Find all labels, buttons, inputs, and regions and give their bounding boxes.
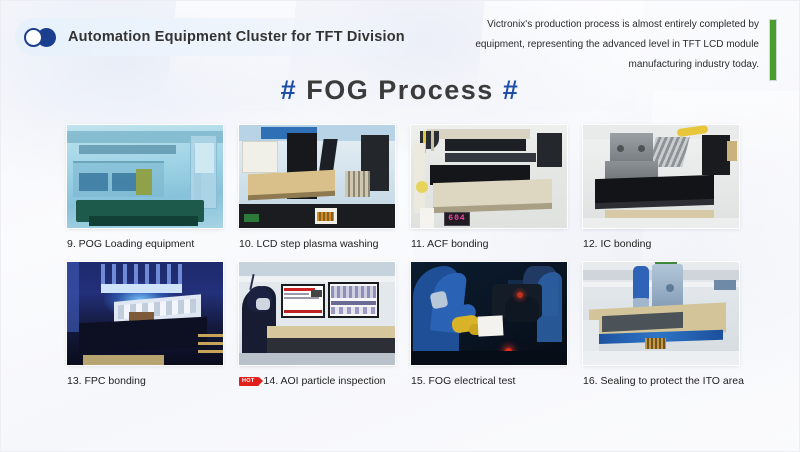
grid-item[interactable]: 12. IC bonding [583,125,739,251]
grid-item-caption: 16. Sealing to protect the ITO area [583,374,739,388]
toggle-knob-light [24,28,43,47]
green-accent-bar [769,19,777,81]
aoi-particle-inspection-photo[interactable] [239,262,395,365]
pog-loading-equipment-photo[interactable] [67,125,223,228]
grid-item-caption: 9. POG Loading equipment [67,237,223,251]
grid-item[interactable]: 15. FOG electrical test [411,262,567,388]
grid-item[interactable]: 604 11. ACF bonding [411,125,567,251]
equipment-grid: 9. POG Loading equipment 10. LCD step pl… [67,125,739,388]
slide-canvas: Automation Equipment Cluster for TFT Div… [0,0,800,452]
intro-block: Victronix's production process is almost… [474,15,777,81]
hash-left-icon: # [281,75,298,105]
grid-item-caption: 11. ACF bonding [411,237,567,251]
grid-item-caption: 15. FOG electrical test [411,374,567,388]
lcd-step-plasma-washing-photo[interactable] [239,125,395,228]
caption-text: 9. POG Loading equipment [67,237,194,251]
page-title: Automation Equipment Cluster for TFT Div… [68,29,405,45]
header-banner: Automation Equipment Cluster for TFT Div… [15,18,423,56]
hot-badge: HOT [239,377,259,386]
grid-item-caption: HOT 14. AOI particle inspection [239,374,395,388]
caption-text: 13. FPC bonding [67,374,146,388]
grid-item[interactable]: HOT 14. AOI particle inspection [239,262,395,388]
toggle-switch-icon[interactable] [24,28,56,47]
grid-item-caption: 10. LCD step plasma washing [239,237,395,251]
sealing-ito-area-photo[interactable] [583,262,739,365]
grid-item-caption: 13. FPC bonding [67,374,223,388]
caption-text: 10. LCD step plasma washing [239,237,379,251]
grid-item[interactable]: 10. LCD step plasma washing [239,125,395,251]
section-title: # FOG Process # [1,75,799,106]
caption-text: 14. AOI particle inspection [264,374,386,388]
acf-bonding-photo[interactable]: 604 [411,125,567,228]
intro-paragraph: Victronix's production process is almost… [474,15,769,81]
grid-item[interactable]: 9. POG Loading equipment [67,125,223,251]
caption-text: 16. Sealing to protect the ITO area [583,374,744,388]
grid-item[interactable]: 13. FPC bonding [67,262,223,388]
grid-item[interactable]: 16. Sealing to protect the ITO area [583,262,739,388]
fog-electrical-test-photo[interactable] [411,262,567,365]
caption-text: 12. IC bonding [583,237,651,251]
acf-led-readout: 604 [444,212,471,226]
ic-bonding-photo[interactable] [583,125,739,228]
fpc-bonding-photo[interactable] [67,262,223,365]
hash-right-icon: # [503,75,520,105]
section-title-text: FOG Process [306,75,494,105]
grid-item-caption: 12. IC bonding [583,237,739,251]
caption-text: 15. FOG electrical test [411,374,515,388]
caption-text: 11. ACF bonding [411,237,488,251]
